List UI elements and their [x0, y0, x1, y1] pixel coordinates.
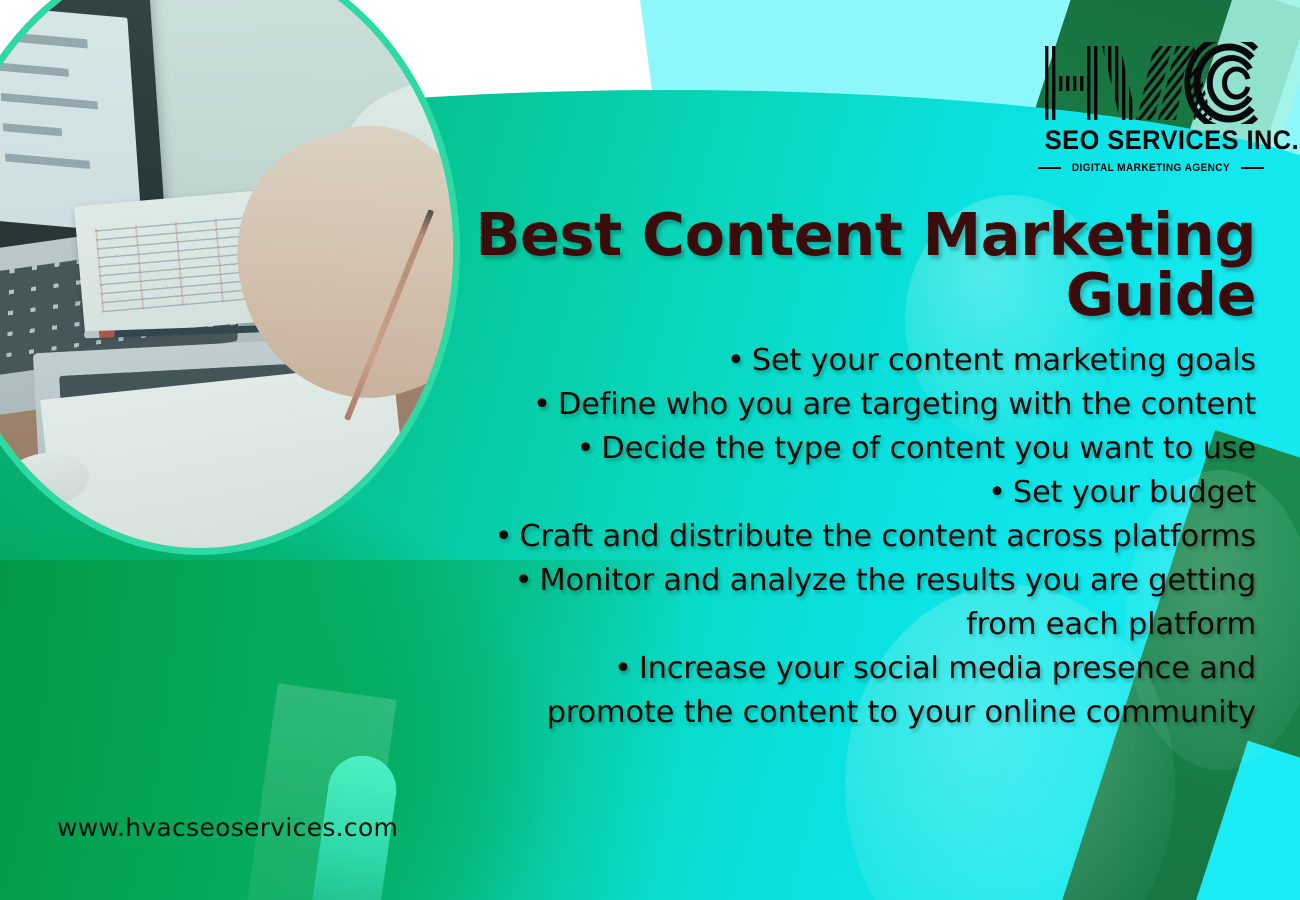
logo-rule-right: [1241, 167, 1264, 169]
list-item-continuation: from each platform: [300, 603, 1260, 647]
list-item: •Craft and distribute the content across…: [300, 515, 1260, 559]
logo-tagline-row: DIGITAL MARKETING AGENCY: [1038, 162, 1264, 174]
list-item-label: Decide the type of content you want to u…: [601, 431, 1256, 466]
logo-tagline: DIGITAL MARKETING AGENCY: [1072, 162, 1230, 174]
logo-rule-left: [1038, 167, 1061, 169]
list-item: •Monitor and analyze the results you are…: [300, 559, 1260, 603]
brand-logo[interactable]: SEO SERVICES INC. DIGITAL MARKETING AGEN…: [1038, 42, 1264, 174]
list-item: •Increase your social media presence and: [300, 647, 1260, 691]
list-item-continuation: promote the content to your online commu…: [300, 691, 1260, 735]
logo-company-name: SEO SERVICES INC.: [1045, 125, 1257, 156]
bullet-marker-icon: •: [533, 387, 551, 422]
guide-step-list: •Set your content marketing goals •Defin…: [300, 339, 1260, 734]
infographic-poster: SEO SERVICES INC. DIGITAL MARKETING AGEN…: [0, 0, 1300, 900]
list-item-label: from each platform: [966, 607, 1256, 642]
hvac-striped-monogram-icon: [1038, 42, 1264, 124]
list-item: •Set your budget: [300, 471, 1260, 515]
bullet-marker-icon: •: [988, 475, 1006, 510]
list-item-label: Set your budget: [1013, 475, 1256, 510]
bullet-marker-icon: •: [614, 651, 632, 686]
list-item: •Decide the type of content you want to …: [300, 427, 1260, 471]
bullet-marker-icon: •: [515, 563, 533, 598]
list-item: •Set your content marketing goals: [300, 339, 1260, 383]
list-item-label: Monitor and analyze the results you are …: [539, 563, 1256, 598]
content-block: Best Content Marketing Guide •Set your c…: [300, 205, 1260, 735]
list-item-label: Define who you are targeting with the co…: [558, 387, 1256, 422]
page-title: Best Content Marketing Guide: [300, 205, 1260, 325]
website-url[interactable]: www.hvacseoservices.com: [57, 813, 398, 842]
bullet-marker-icon: •: [727, 343, 745, 378]
bullet-marker-icon: •: [495, 519, 513, 554]
list-item-label: Increase your social media presence and: [639, 651, 1256, 686]
list-item-label: Set your content marketing goals: [752, 343, 1256, 378]
bullet-marker-icon: •: [576, 431, 594, 466]
list-item-label: Craft and distribute the content across …: [519, 519, 1256, 554]
list-item-label: promote the content to your online commu…: [547, 695, 1256, 730]
list-item: •Define who you are targeting with the c…: [300, 383, 1260, 427]
